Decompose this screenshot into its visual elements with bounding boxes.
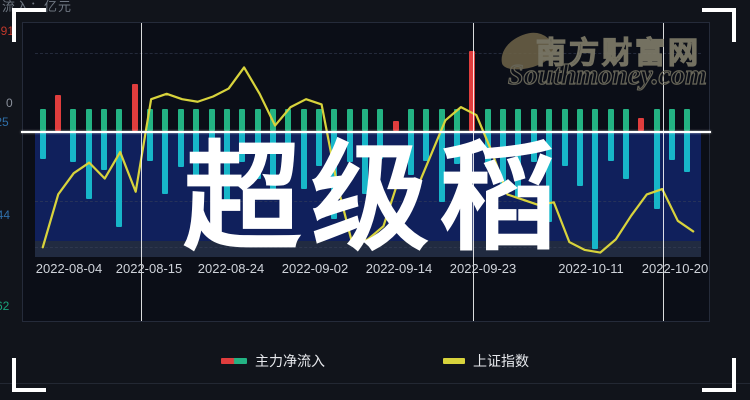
x-axis-tick-label: 2022-08-15: [116, 261, 183, 276]
bottom-divider: [0, 383, 750, 384]
index-line-svg: [35, 33, 701, 285]
x-axis-tick-label: 2022-08-24: [198, 261, 265, 276]
x-axis-labels: 2022-08-042022-08-152022-08-242022-09-02…: [35, 261, 701, 279]
x-axis-tick-label: 2022-10-20: [642, 261, 709, 276]
y-axis-label-2: .25: [0, 115, 9, 129]
legend-label-net-inflow: 主力净流入: [255, 351, 325, 371]
legend-swatch-net-inflow-icon: [221, 358, 247, 364]
legend-swatch-index-icon: [443, 358, 465, 364]
x-axis-tick-label: 2022-09-14: [366, 261, 433, 276]
x-axis-tick-label: 2022-09-02: [282, 261, 349, 276]
y-axis-label-4: 62: [0, 299, 9, 313]
x-axis-tick-label: 2022-08-04: [36, 261, 103, 276]
x-axis-tick-label: 2022-09-23: [450, 261, 517, 276]
legend-label-shanghai-index: 上证指数: [473, 351, 529, 371]
zero-axis-line: [21, 131, 711, 133]
y-axis-label-1: 0: [6, 96, 13, 110]
stock-flow-chart: 2022-08-042022-08-152022-08-242022-09-02…: [22, 22, 710, 322]
legend-item-net-inflow[interactable]: 主力净流入: [221, 351, 325, 371]
y-axis-label-3: 644: [0, 208, 10, 222]
plot-area: 2022-08-042022-08-152022-08-242022-09-02…: [35, 33, 701, 285]
screenshot-stage: 流入：亿元 2022-08-042022-08-152022-08-242022…: [0, 0, 750, 400]
chart-legend: 主力净流入 上证指数: [0, 348, 750, 374]
line-series-shanghai-index: [35, 33, 701, 285]
legend-item-shanghai-index[interactable]: 上证指数: [443, 351, 529, 371]
y-axis-label-0: 391: [0, 24, 14, 38]
header-partial-text: 流入：亿元: [2, 0, 72, 15]
x-axis-tick-label: 2022-10-11: [558, 261, 624, 276]
